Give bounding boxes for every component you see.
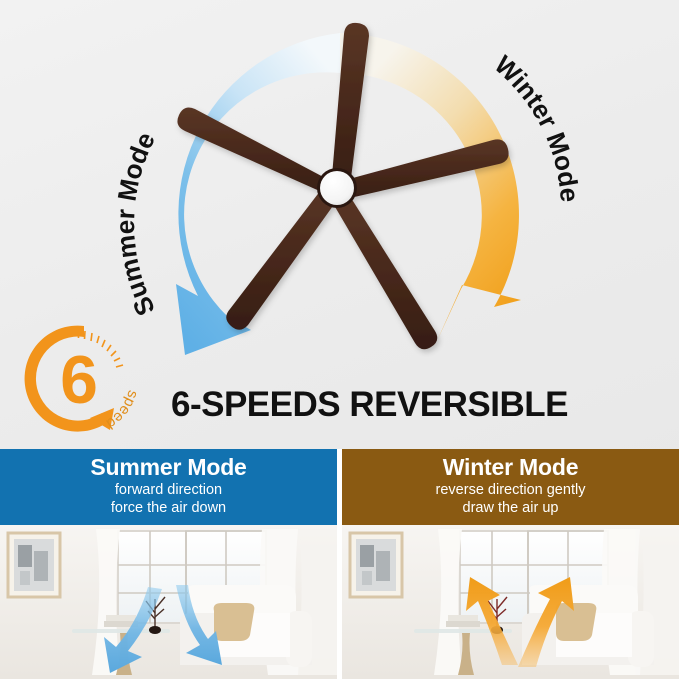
summer-banner-title: Summer Mode: [90, 455, 246, 480]
room-photo-row: [0, 525, 679, 679]
winter-banner-title: Winter Mode: [443, 455, 579, 480]
summer-banner-line1: forward direction: [115, 482, 222, 498]
summer-mode-banner: Summer Mode forward direction force the …: [0, 449, 337, 525]
mode-banner-row: Summer Mode forward direction force the …: [0, 449, 679, 525]
wall-art-frame: [8, 533, 60, 597]
winter-mode-banner: Winter Mode reverse direction gently dra…: [342, 449, 679, 525]
infographic-page: Summer Mode Winter Mode: [0, 0, 679, 679]
summer-mode-curve-label: Summer Mode: [110, 127, 161, 320]
fan-hub: [317, 168, 357, 208]
summer-banner-line2: force the air down: [111, 500, 226, 516]
wall-art-frame: [350, 533, 402, 597]
winter-banner-line2: draw the air up: [463, 500, 559, 516]
summer-room-photo: [0, 525, 337, 679]
winter-room-photo: [342, 525, 679, 679]
winter-banner-line1: reverse direction gently: [436, 482, 586, 498]
page-title: 6-SPEEDS REVERSIBLE: [0, 385, 679, 425]
hero-illustration: Summer Mode Winter Mode: [0, 0, 679, 449]
